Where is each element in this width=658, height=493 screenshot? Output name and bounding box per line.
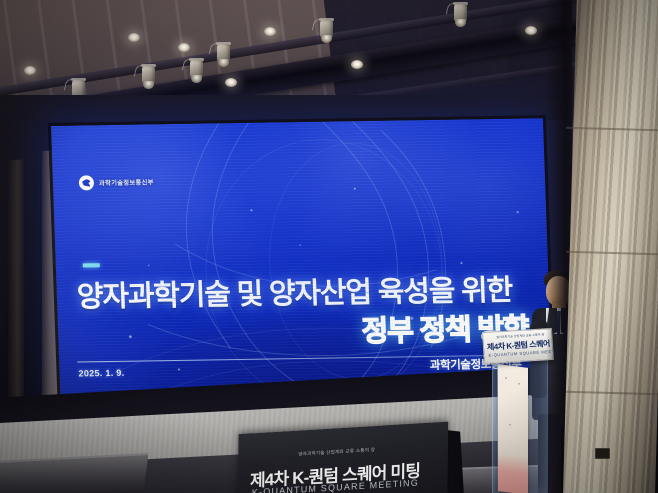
stage-spotlight-5 (215, 42, 232, 68)
ceiling-downlight-5 (525, 26, 537, 35)
floor-event-sign: 양자과학기술 산업계와 교류·소통의 장 제4차 K-퀀텀 스퀘어 미팅 K-Q… (238, 422, 448, 493)
spotlight-lens (143, 81, 154, 89)
floor-sign-subtitle: 양자과학기술 산업계와 교류·소통의 장 (298, 447, 375, 458)
stage-spotlight-3 (140, 64, 157, 90)
ceiling-downlight-6 (264, 27, 276, 36)
ceiling-downlight-7 (178, 43, 190, 52)
screenshot-scene: 과학기술정보통신부 양자과학기술 및 양자산업 육성을 위한 정부 정책 방향 … (0, 0, 658, 493)
slide-date: 2025. 1. 9. (78, 368, 124, 379)
ministry-logo: 과학기술정보통신부 (79, 174, 154, 190)
spotlight-lens (191, 75, 202, 83)
ceiling-downlight-4 (351, 60, 363, 69)
floor-monitor-left (0, 453, 148, 493)
spotlight-lens (218, 59, 229, 67)
lectern-podium: 양자과학기술 산업계와 교류·소통의 장 제4차 K-퀀텀 스퀘어 미팅 K-Q… (486, 330, 548, 493)
stage-spotlight-4 (188, 58, 205, 84)
ceiling-downlight-2 (128, 33, 140, 42)
title-accent-dash (83, 263, 100, 267)
ceiling-downlight-3 (225, 78, 237, 87)
spotlight-lens (455, 19, 466, 27)
wall-power-outlet (595, 448, 610, 459)
stage-spotlight-7 (452, 2, 469, 28)
spotlight-lens (321, 35, 332, 43)
ceiling-downlight-1 (24, 66, 36, 75)
podium-event-sign: 양자과학기술 산업계와 교류·소통의 장 제4차 K-퀀텀 스퀘어 미팅 K-Q… (482, 328, 554, 364)
classical-column (563, 0, 658, 493)
ministry-logo-text: 과학기술정보통신부 (99, 177, 154, 187)
ministry-emblem-icon (79, 175, 95, 190)
stage-spotlight-6 (318, 18, 335, 44)
podium-front-panel (498, 364, 528, 493)
